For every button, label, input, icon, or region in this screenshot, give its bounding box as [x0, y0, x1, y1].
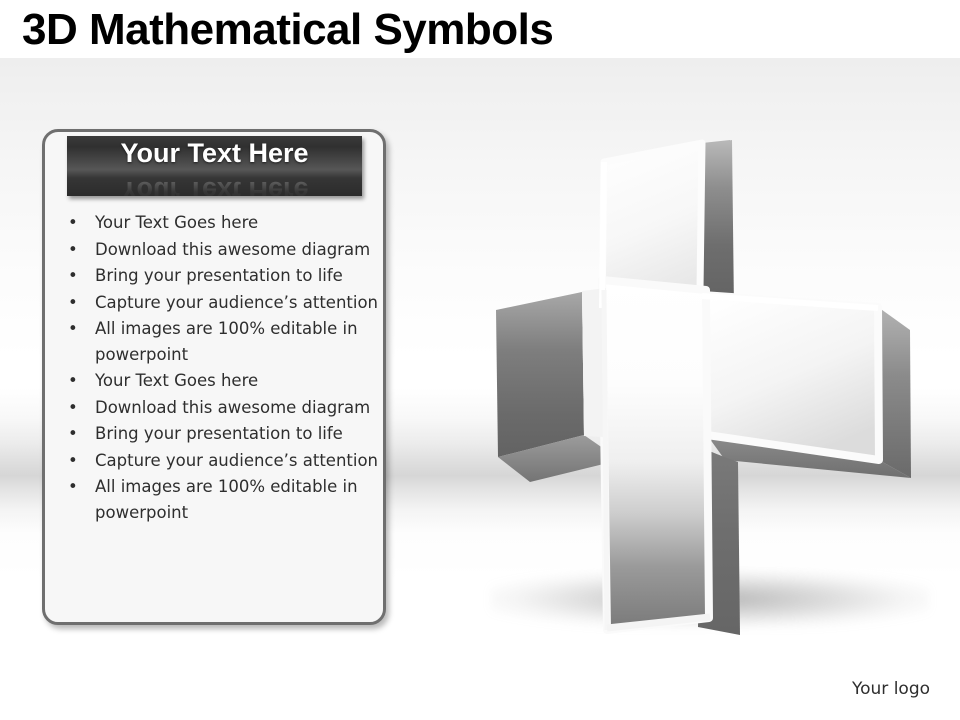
- list-item: •Download this awesome diagram: [57, 395, 383, 421]
- list-item: •Capture your audience’s attention: [57, 448, 383, 474]
- list-item: •Your Text Goes here: [57, 368, 383, 394]
- panel-header-title: Your Text Here: [67, 138, 362, 169]
- list-item-label: All images are 100% editable in powerpoi…: [95, 319, 358, 364]
- symbol-face-right-front: [702, 295, 879, 460]
- list-item: •Bring your presentation to life: [57, 263, 383, 289]
- panel-header: Your Text Here Your Text Here: [67, 136, 362, 196]
- panel-header-title-reflection: Your Text Here: [67, 175, 362, 196]
- list-item-label: Capture your audience’s attention: [95, 293, 378, 312]
- list-item-label: All images are 100% editable in powerpoi…: [95, 477, 358, 522]
- list-item: •Download this awesome diagram: [57, 237, 383, 263]
- bullet-dot-icon: •: [68, 474, 78, 500]
- list-item-label: Your Text Goes here: [95, 371, 258, 390]
- symbol-edge-stem-left-highlight: [604, 290, 607, 630]
- bullet-dot-icon: •: [68, 237, 78, 263]
- bullet-dot-icon: •: [68, 421, 78, 447]
- bullet-dot-icon: •: [68, 263, 78, 289]
- symbol-edge-top-left-highlight: [602, 162, 604, 308]
- list-item: •Capture your audience’s attention: [57, 290, 383, 316]
- bullet-dot-icon: •: [68, 448, 78, 474]
- list-item-label: Download this awesome diagram: [95, 398, 370, 417]
- bullet-dot-icon: •: [68, 316, 78, 342]
- symbol-container: [470, 130, 940, 660]
- bullet-dot-icon: •: [68, 368, 78, 394]
- page-title: 3D Mathematical Symbols: [22, 5, 553, 55]
- slide-root: 3D Mathematical Symbols: [0, 0, 960, 720]
- list-item-label: Bring your presentation to life: [95, 266, 343, 285]
- bullet-list: •Your Text Goes here•Download this aweso…: [57, 210, 383, 526]
- list-item: •All images are 100% editable in powerpo…: [57, 474, 383, 525]
- list-item: •Bring your presentation to life: [57, 421, 383, 447]
- list-item: •All images are 100% editable in powerpo…: [57, 316, 383, 367]
- list-item: •Your Text Goes here: [57, 210, 383, 236]
- 3d-plus-sign-icon: [470, 130, 940, 660]
- bullet-dot-icon: •: [68, 290, 78, 316]
- bullet-dot-icon: •: [68, 210, 78, 236]
- bullet-dot-icon: •: [68, 395, 78, 421]
- logo-placeholder: Your logo: [852, 679, 930, 699]
- list-item-label: Bring your presentation to life: [95, 424, 343, 443]
- content-panel: Your Text Here Your Text Here •Your Text…: [42, 129, 386, 625]
- list-item-label: Your Text Goes here: [95, 213, 258, 232]
- list-item-label: Download this awesome diagram: [95, 240, 370, 259]
- list-item-label: Capture your audience’s attention: [95, 451, 378, 470]
